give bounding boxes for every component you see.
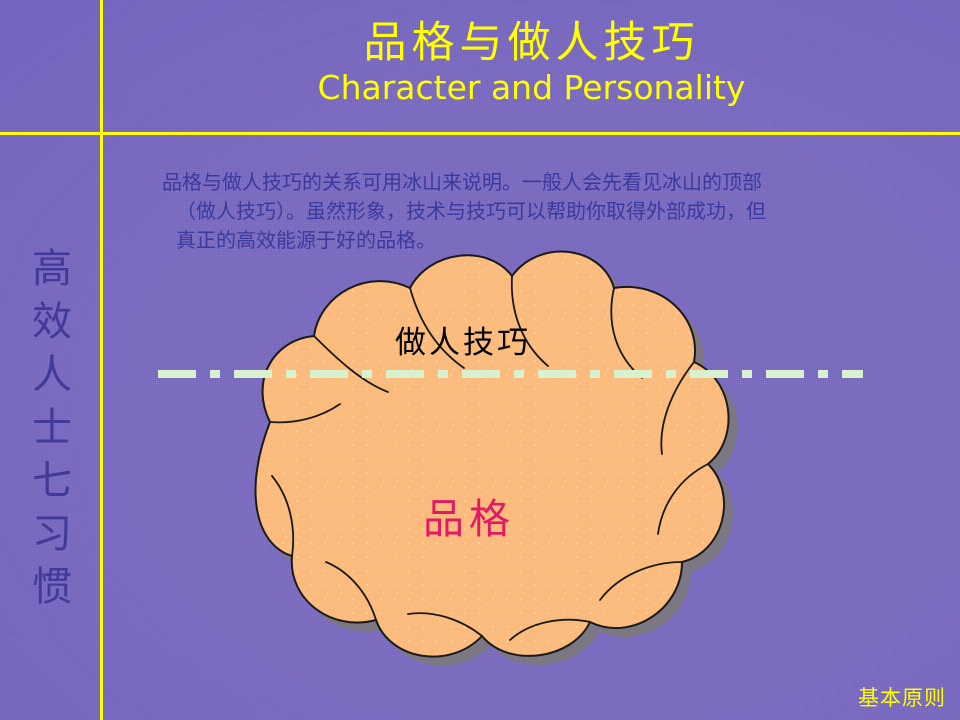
sidebar-char-4: 士 — [22, 402, 82, 455]
slide-title-block: 品格与做人技巧 Character and Personality — [103, 22, 960, 104]
sidebar-char-2: 效 — [22, 296, 82, 349]
iceberg-cloud-diagram — [210, 232, 780, 672]
cloud-body — [256, 252, 729, 657]
slide-footer-label: 基本原则 — [858, 682, 946, 712]
sidebar-divider-line — [100, 0, 103, 720]
header-divider-line — [0, 132, 960, 135]
sidebar-char-1: 高 — [22, 243, 82, 296]
sidebar-char-7: 惯 — [22, 561, 82, 614]
sidebar-vertical-title: 高 效 人 士 七 习 惯 — [22, 243, 82, 614]
cloud-label-skills: 做人技巧 — [395, 317, 531, 362]
body-line-2: （做人技巧）。虽然形象，技术与技巧可以帮助你取得外部成功，但 — [162, 197, 902, 226]
slide-title-chinese: 品格与做人技巧 — [103, 22, 960, 65]
waterline-dash-dot — [158, 370, 863, 378]
sidebar-char-6: 习 — [22, 508, 82, 561]
slide-title-english: Character and Personality — [103, 71, 960, 104]
sidebar-char-3: 人 — [22, 349, 82, 402]
body-line-1: 品格与做人技巧的关系可用冰山来说明。一般人会先看见冰山的顶部 — [162, 168, 902, 197]
slide-canvas: 品格与做人技巧 Character and Personality 高 效 人 … — [0, 0, 960, 720]
cloud-label-character: 品格 — [423, 485, 515, 545]
sidebar-char-5: 七 — [22, 455, 82, 508]
